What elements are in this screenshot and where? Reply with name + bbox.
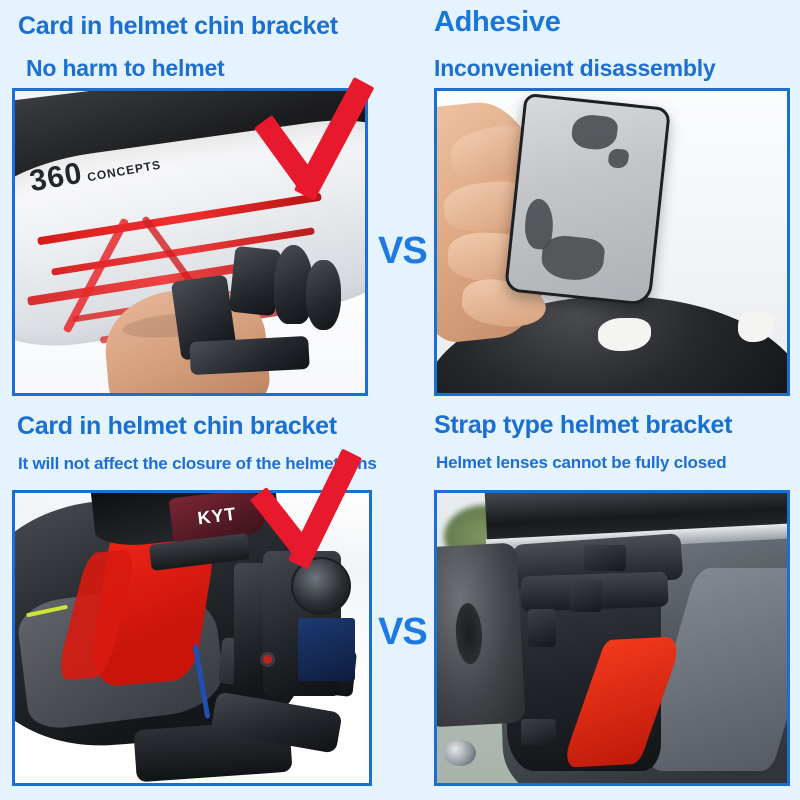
photo-helmet-chin-bracket-white: 360 CONCEPTS — [15, 91, 365, 393]
microphone-windscreen — [437, 543, 526, 728]
photo-strap-bracket-blocking-visor — [437, 493, 787, 783]
quadrant-heading-top-left: Card in helmet chin bracket — [18, 14, 338, 39]
photo-panel-top-left: 360 CONCEPTS — [12, 88, 368, 396]
quadrant-subheading-bottom-left: It will not affect the closure of the he… — [18, 455, 377, 472]
glue-residue — [598, 318, 651, 351]
adhesive-pad — [504, 93, 671, 307]
comparison-board: Card in helmet chin bracket No harm to h… — [0, 0, 800, 800]
photo-adhesive-pad-removal — [437, 91, 787, 393]
glue-residue — [738, 311, 773, 341]
vs-label-top: VS — [378, 232, 427, 270]
quadrant-subheading-top-right: Inconvenient disassembly — [434, 57, 716, 80]
quadrant-heading-bottom-left: Card in helmet chin bracket — [17, 414, 337, 439]
photo-panel-top-right — [434, 88, 790, 396]
quadrant-heading-bottom-right: Strap type helmet bracket — [434, 413, 732, 438]
photo-panel-bottom-right — [434, 490, 790, 786]
quadrant-subheading-bottom-right: Helmet lenses cannot be fully closed — [436, 454, 726, 471]
quadrant-subheading-top-left: No harm to helmet — [26, 57, 225, 80]
vs-label-bottom: VS — [378, 613, 427, 651]
quadrant-heading-top-right: Adhesive — [434, 8, 561, 37]
